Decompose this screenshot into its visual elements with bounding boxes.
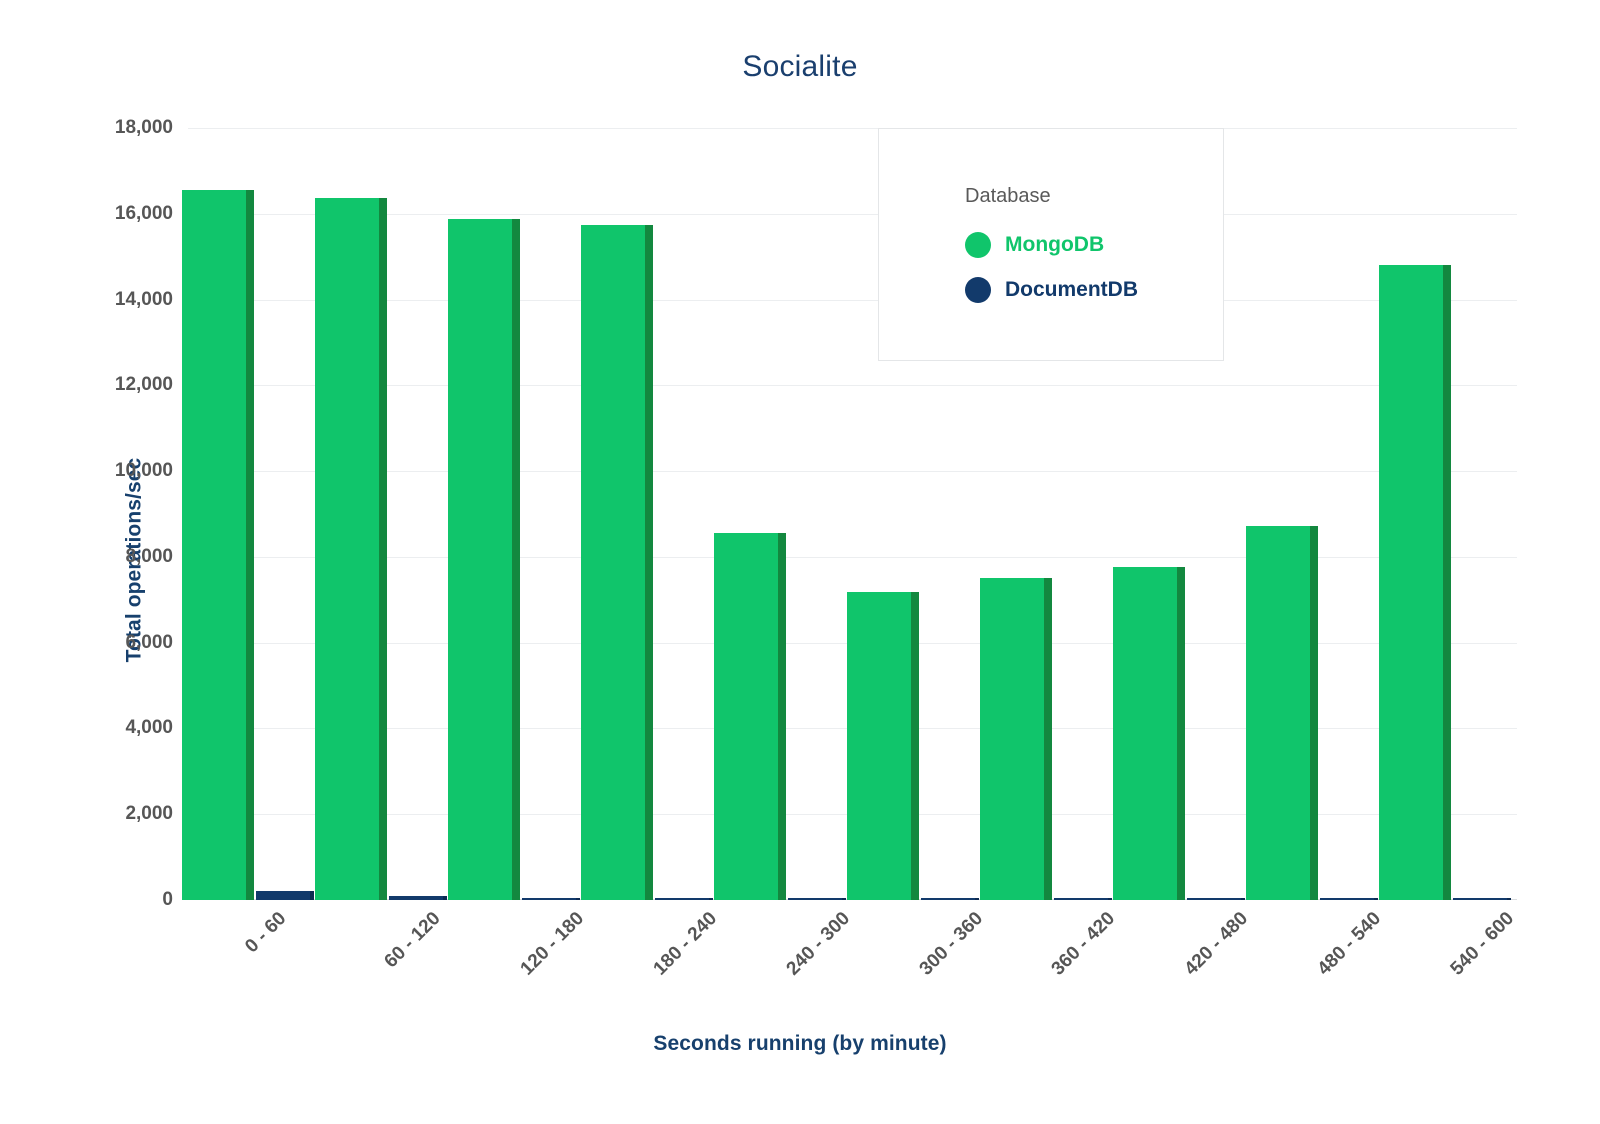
bar-documentdb[interactable] (1320, 898, 1378, 900)
y-tick-label: 4,000 (53, 717, 173, 739)
bar-mongodb[interactable] (980, 578, 1052, 900)
legend-item-mongodb[interactable]: MongoDB (965, 232, 1104, 258)
bar-mongodb[interactable] (581, 225, 653, 900)
circle-icon (965, 277, 991, 303)
page-title: Socialite (0, 50, 1600, 84)
x-tick-label: 300 - 360 (915, 908, 987, 980)
bar-documentdb[interactable] (1187, 898, 1245, 900)
x-tick-label: 120 - 180 (516, 908, 588, 980)
x-tick-label: 540 - 600 (1447, 908, 1519, 980)
bar-group (1384, 128, 1517, 900)
legend-item-documentdb[interactable]: DocumentDB (965, 277, 1138, 303)
legend-item-label: DocumentDB (1005, 278, 1138, 302)
bar-documentdb[interactable] (921, 898, 979, 900)
x-tick-label: 480 - 540 (1314, 908, 1386, 980)
legend-title: Database (965, 185, 1051, 208)
bar-documentdb[interactable] (522, 898, 580, 900)
y-tick-label: 18,000 (53, 117, 173, 139)
bar-mongodb[interactable] (448, 219, 520, 901)
y-tick-label: 6,000 (53, 632, 173, 654)
bar-group (454, 128, 587, 900)
bar-group (720, 128, 853, 900)
bar-documentdb[interactable] (788, 898, 846, 900)
bar-documentdb[interactable] (256, 891, 314, 900)
y-tick-label: 8,000 (53, 546, 173, 568)
legend-item-label: MongoDB (1005, 233, 1104, 257)
x-tick-label: 420 - 480 (1181, 908, 1253, 980)
bar-group (188, 128, 321, 900)
bar-mongodb[interactable] (1246, 526, 1318, 900)
bar-documentdb[interactable] (1453, 898, 1511, 900)
bar-mongodb[interactable] (714, 533, 786, 900)
bar-documentdb[interactable] (655, 898, 713, 900)
x-tick-label: 240 - 300 (782, 908, 854, 980)
y-tick-label: 14,000 (53, 289, 173, 311)
legend: Database MongoDBDocumentDB (878, 128, 1224, 361)
x-tick-label: 180 - 240 (649, 908, 721, 980)
circle-icon (965, 232, 991, 258)
bar-mongodb[interactable] (182, 190, 254, 900)
bar-documentdb[interactable] (1054, 898, 1112, 900)
bar-mongodb[interactable] (847, 592, 919, 900)
y-tick-label: 0 (53, 889, 173, 911)
x-tick-label: 360 - 420 (1048, 908, 1120, 980)
y-tick-label: 2,000 (53, 803, 173, 825)
chart-container: Socialite Total operations/sec Seconds r… (0, 0, 1600, 1124)
bar-mongodb[interactable] (1379, 265, 1451, 900)
bar-group (1251, 128, 1384, 900)
y-tick-label: 10,000 (53, 460, 173, 482)
bar-mongodb[interactable] (1113, 567, 1185, 900)
bar-mongodb[interactable] (315, 198, 387, 900)
bar-documentdb[interactable] (389, 896, 447, 900)
x-tick-label: 60 - 120 (380, 908, 445, 973)
y-tick-label: 12,000 (53, 374, 173, 396)
x-tick-label: 0 - 60 (241, 908, 291, 958)
x-axis-title: Seconds running (by minute) (0, 1032, 1600, 1056)
plot-area (188, 128, 1517, 900)
bar-group (587, 128, 720, 900)
y-tick-label: 16,000 (53, 203, 173, 225)
bar-group (321, 128, 454, 900)
